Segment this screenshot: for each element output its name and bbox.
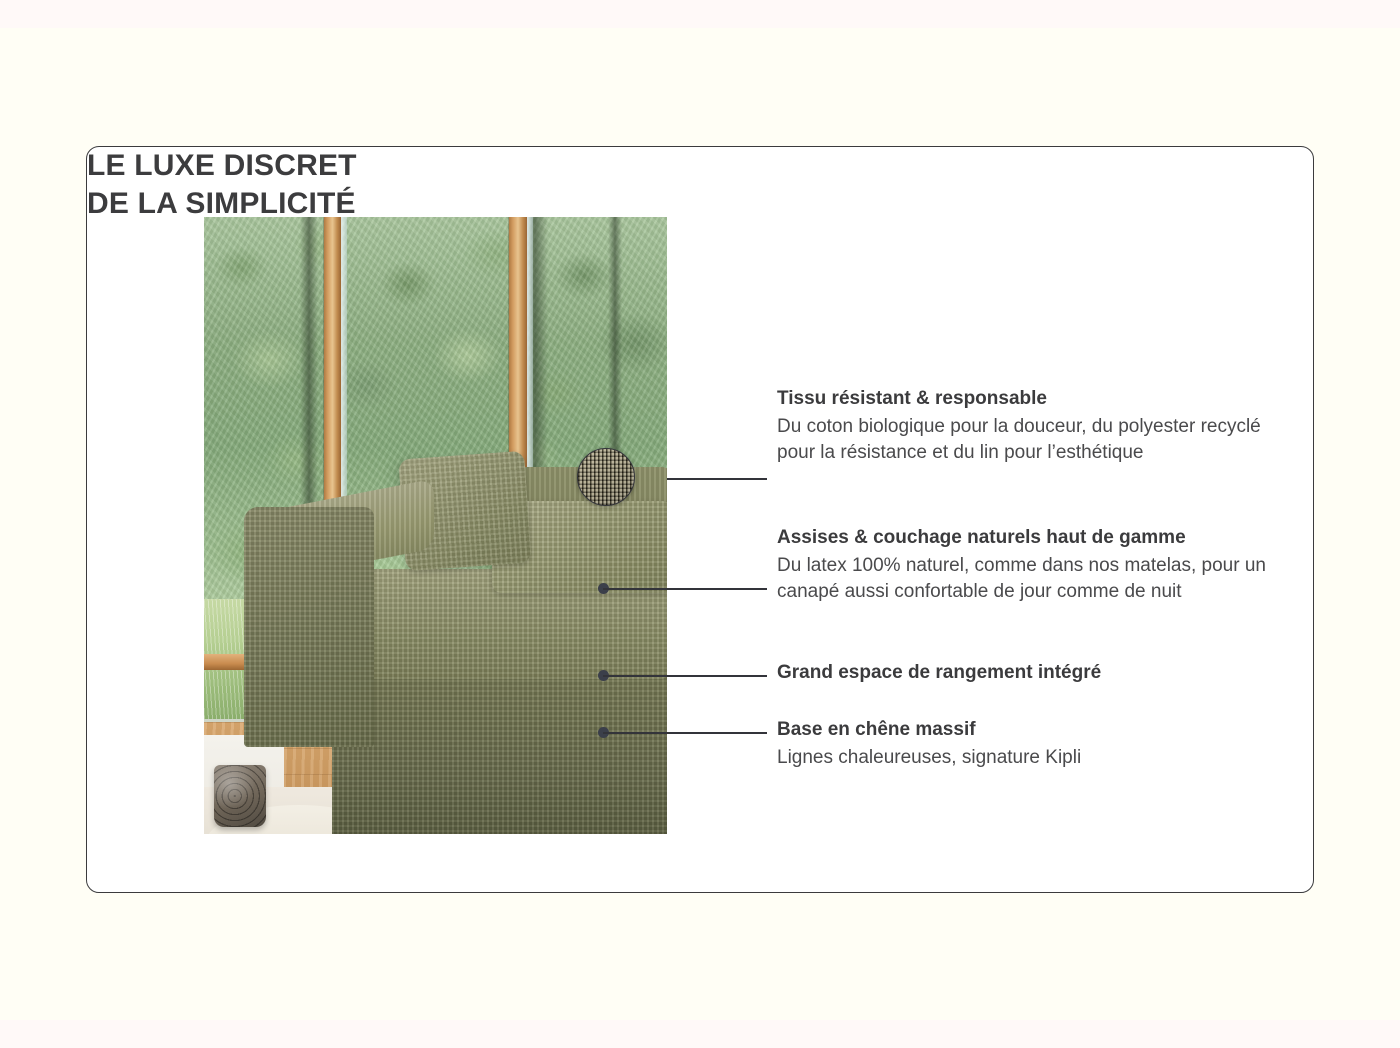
feature-item-base: Base en chêne massif Lignes chaleureuses…: [777, 718, 1081, 771]
page-title: LE LUXE DISCRET DE LA SIMPLICITÉ: [87, 147, 1313, 223]
page-title-line-1: LE LUXE DISCRET: [87, 147, 1313, 185]
connector-line-1: [667, 478, 767, 480]
sofa-arm: [244, 507, 374, 747]
ceramic-cup: [214, 765, 266, 827]
connector-line-4: [603, 732, 767, 734]
feature-body: Lignes chaleureuses, signature Kipli: [777, 745, 1081, 771]
connector-line-2: [603, 588, 767, 590]
bottom-accent-band: [0, 1020, 1400, 1048]
connector-line-3: [603, 675, 767, 677]
feature-title: Base en chêne massif: [777, 718, 1081, 743]
feature-item-tissu: Tissu résistant & responsable Du coton b…: [777, 387, 1277, 466]
sofa-body: [332, 657, 667, 834]
feature-item-assises: Assises & couchage naturels haut de gamm…: [777, 526, 1277, 605]
feature-title: Grand espace de rangement intégré: [777, 661, 1101, 686]
feature-title: Assises & couchage naturels haut de gamm…: [777, 526, 1277, 551]
feature-body: Du coton biologique pour la douceur, du …: [777, 414, 1277, 466]
top-accent-band: [0, 0, 1400, 28]
feature-card: LE LUXE DISCRET DE LA SIMPLICITÉ Tissu r…: [86, 146, 1314, 893]
feature-item-rangement: Grand espace de rangement intégré: [777, 661, 1101, 688]
product-photo: [204, 217, 667, 834]
feature-body: Du latex 100% naturel, comme dans nos ma…: [777, 553, 1277, 605]
fabric-zoom-icon: [577, 448, 635, 506]
feature-title: Tissu résistant & responsable: [777, 387, 1277, 412]
